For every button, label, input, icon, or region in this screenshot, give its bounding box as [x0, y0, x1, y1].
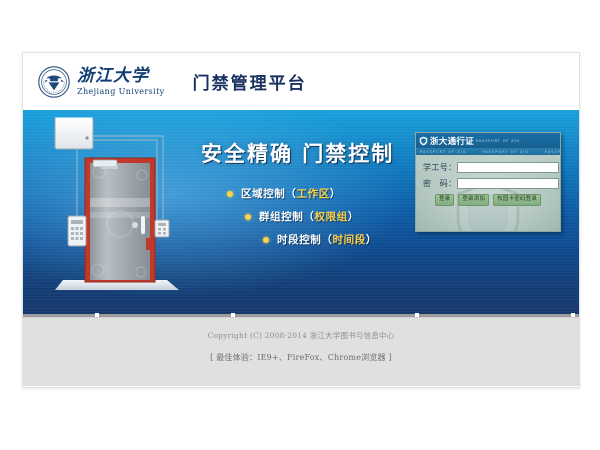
bullet-dot-icon: [227, 191, 233, 197]
watermark-text: PASSPORT OF ZJU: [545, 150, 560, 154]
feature-highlight: 时间段: [333, 232, 366, 247]
campus-card-login-button[interactable]: 校园卡密码登录: [493, 194, 541, 206]
feature-highlight: 权限组: [315, 209, 348, 224]
list-item: 时段控制（ 时间段 ）: [263, 232, 394, 247]
feature-highlight: 工作区: [297, 186, 330, 201]
page-title: 门禁管理平台: [193, 69, 307, 94]
login-form: 学工号： 密 码： 登录 登录添加 校园卡密码登录: [416, 155, 560, 206]
hero-slogan: 安全精确 门禁控制: [201, 138, 394, 168]
watermark-text: PASSPORT OF ZJU: [482, 150, 528, 154]
login-button[interactable]: 登录: [435, 194, 454, 206]
feature-label: 区域控制（: [241, 186, 297, 201]
feature-list: 区域控制（ 工作区 ） 群组控制（ 权限组 ） 时段控制（ 时间段: [201, 186, 394, 247]
feature-label: 时段控制（: [277, 232, 333, 247]
bullet-dot-icon: [263, 237, 269, 243]
content-card: 浙江大学 Zhejiang University 门禁管理平台: [22, 52, 580, 388]
copyright-text: Copyright (C) 2008-2014 浙江大学图书与信息中心: [208, 330, 395, 341]
site-header: 浙江大学 Zhejiang University 门禁管理平台: [23, 53, 579, 110]
browser-support-note: [ 最佳体验：IE9+、FireFox、Chrome浏览器 ]: [210, 352, 392, 363]
username-row: 学工号：: [423, 162, 553, 173]
username-input[interactable]: [457, 162, 559, 173]
password-label: 密 码：: [423, 178, 457, 189]
password-row: 密 码：: [423, 178, 553, 189]
list-item: 区域控制（ 工作区 ）: [227, 186, 394, 201]
hero-copy: 安全精确 门禁控制 区域控制（ 工作区 ） 群组控制（ 权限组 ）: [201, 138, 394, 263]
brand-name-cn: 浙江大学: [77, 68, 165, 85]
brand-name-en: Zhejiang University: [77, 88, 165, 96]
feature-tail: ）: [348, 209, 359, 224]
username-label: 学工号：: [423, 162, 457, 173]
brand-wordmark: 浙江大学 Zhejiang University: [77, 68, 165, 96]
watermark-text: PASSPORT OF ZJU: [420, 150, 466, 154]
feature-label: 群组控制（: [259, 209, 315, 224]
hero-banner: 安全精确 门禁控制 区域控制（ 工作区 ） 群组控制（ 权限组 ）: [23, 110, 579, 314]
password-input[interactable]: [457, 178, 559, 189]
page-root: 浙江大学 Zhejiang University 门禁管理平台: [0, 0, 600, 450]
login-panel: 浙大通行证 PASSPORT OF ZJU PASSPORT OF ZJU PA…: [415, 132, 561, 232]
feature-tail: ）: [366, 232, 377, 247]
zju-emblem-icon: [37, 65, 71, 99]
bullet-dot-icon: [245, 214, 251, 220]
access-control-door-illustration: [41, 112, 191, 310]
feature-tail: ）: [330, 186, 341, 201]
passport-watermark-strip: PASSPORT OF ZJU PASSPORT OF ZJU PASSPORT…: [416, 148, 560, 155]
list-item: 群组控制（ 权限组 ）: [245, 209, 394, 224]
login-panel-subtitle: PASSPORT OF ZJU: [476, 139, 520, 143]
login-add-button[interactable]: 登录添加: [458, 194, 489, 206]
login-panel-header: 浙大通行证 PASSPORT OF ZJU: [416, 133, 560, 148]
site-footer: Copyright (C) 2008-2014 浙江大学图书与信息中心 [ 最佳…: [23, 317, 579, 386]
login-panel-title: 浙大通行证: [430, 135, 474, 147]
login-actions: 登录 登录添加 校园卡密码登录: [423, 194, 553, 206]
